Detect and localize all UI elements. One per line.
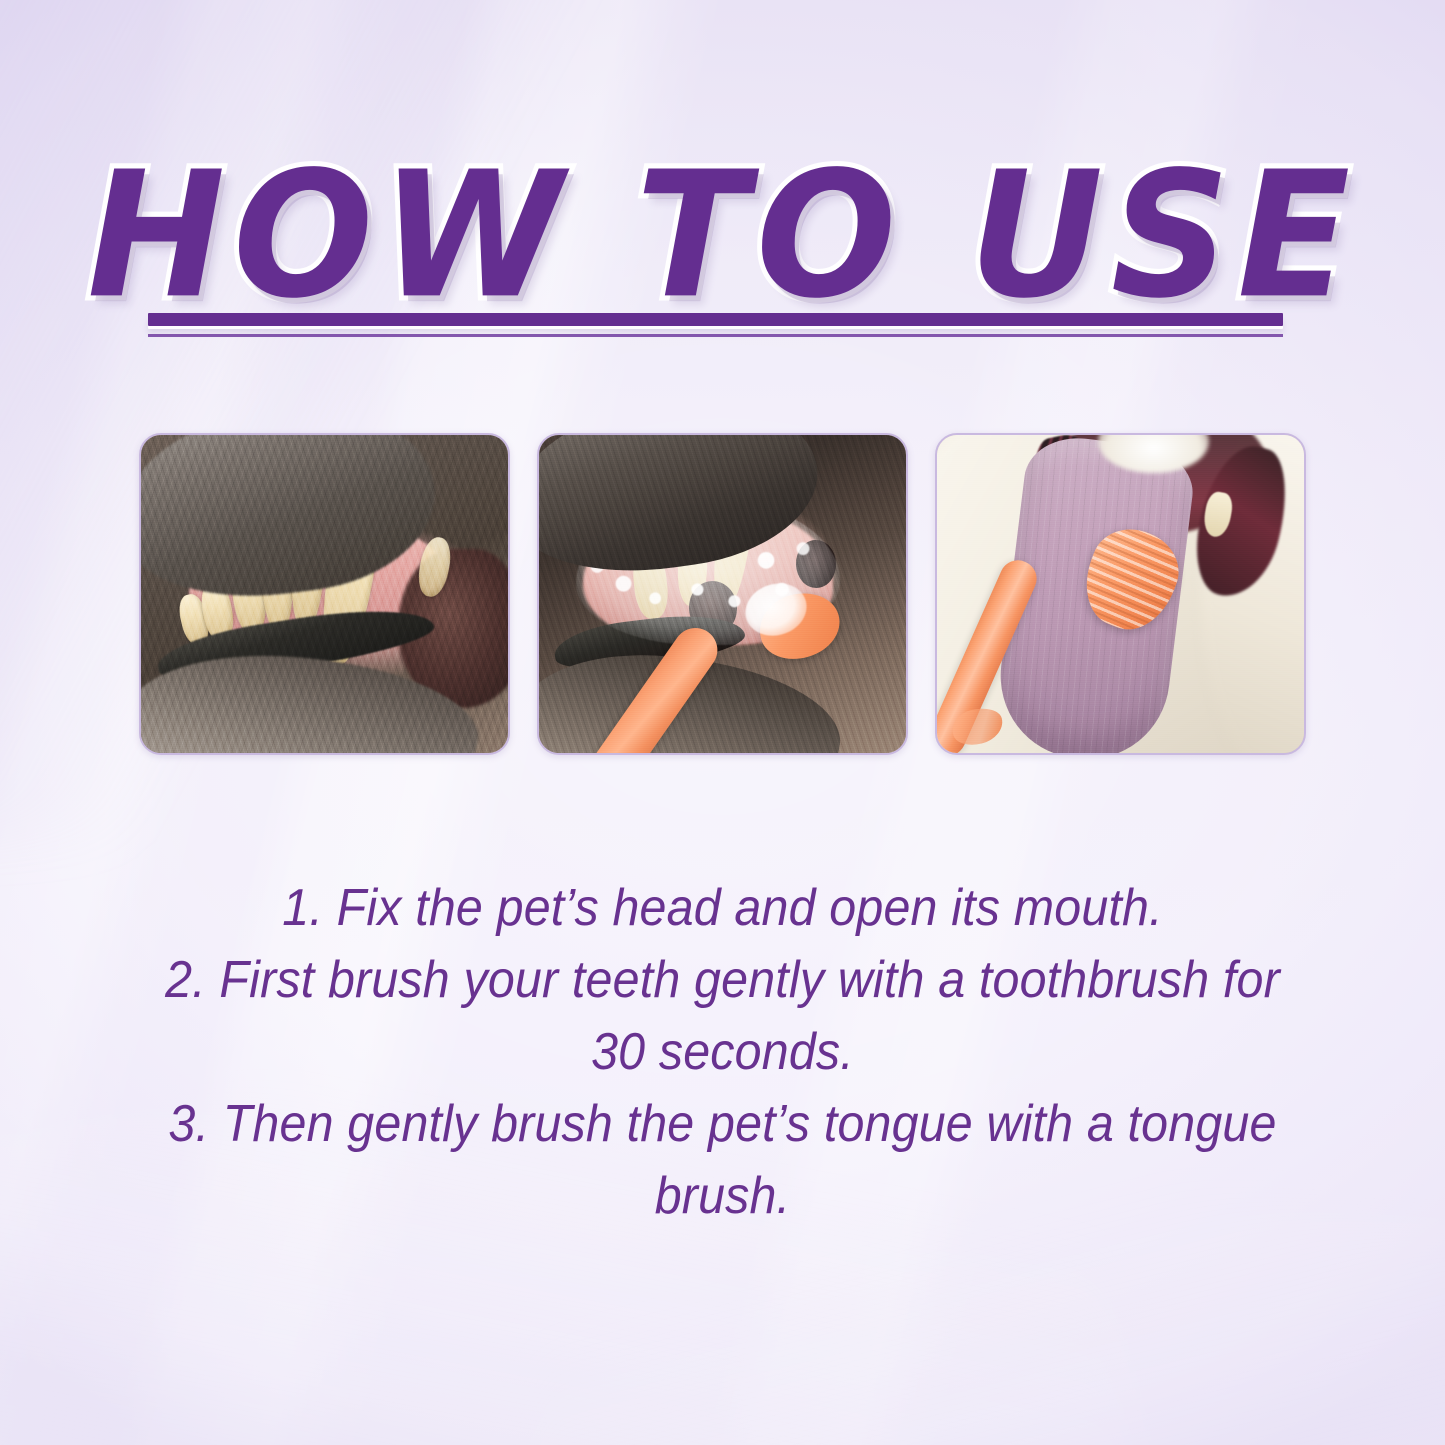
page-title-block: HOW TO USE [0, 148, 1445, 301]
photo-grain [937, 435, 1304, 753]
step-1-photo [139, 433, 510, 755]
how-to-use-poster: HOW TO USE [0, 0, 1445, 1445]
instruction-step-3: 3. Then gently brush the pet’s tongue wi… [134, 1088, 1310, 1232]
title-underline-thin [148, 334, 1283, 337]
step-3-photo [935, 433, 1306, 755]
instruction-step-1: 1. Fix the pet’s head and open its mouth… [134, 872, 1310, 944]
page-title: HOW TO USE [87, 148, 1358, 325]
step-3-photo-inner [937, 435, 1304, 753]
step-photo-gallery [139, 433, 1306, 755]
instructions-block: 1. Fix the pet’s head and open its mouth… [90, 872, 1355, 1232]
photo-grain [539, 435, 906, 753]
title-underline-thick [148, 313, 1283, 326]
photo-grain [141, 435, 508, 753]
instruction-step-2: 2. First brush your teeth gently with a … [134, 944, 1310, 1088]
step-2-photo-inner [539, 435, 906, 753]
title-underline-group [148, 313, 1283, 337]
step-1-photo-inner [141, 435, 508, 753]
step-2-photo [537, 433, 908, 755]
